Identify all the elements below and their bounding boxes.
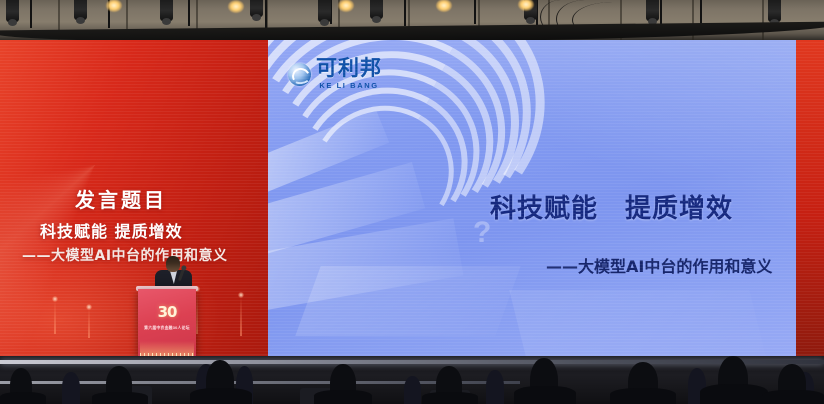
slide-fan-decoration [509,290,766,358]
audience-shoulders [422,392,478,404]
stage-scene: 发言题目 科技赋能 提质增效 ——大模型AI中台的作用和意义 ? [0,0,824,404]
truss-beam [0,22,824,42]
light-glow [388,0,404,11]
stage-light-fixture [6,0,19,22]
audience-shoulders [514,386,576,404]
audience-shoulders [700,384,768,404]
slide-title: 科技赋能 提质增效 [490,188,733,225]
slide-fan-decoration [295,266,520,336]
slide-subtitle: ——大模型AI中台的作用和意义 [546,253,772,277]
stage-accent-light [196,290,198,334]
logo-chinese-text: 可利邦 [316,58,382,79]
podium-anniversary-number: 30 [138,303,196,321]
stage-edge-light [0,360,824,364]
kelebang-logo: 可利邦 KE LI BANG [288,58,382,90]
light-glow [436,0,452,12]
ceiling-truss [0,0,824,42]
stage-light-fixture [250,0,263,17]
light-glow [172,0,188,11]
light-glow [106,0,122,12]
led-panel-red: 发言题目 科技赋能 提质增效 ——大模型AI中台的作用和意义 [0,40,270,358]
audience-shoulders [92,392,148,404]
speech-topic-line3: ——大模型AI中台的作用和意义 [22,245,228,265]
audience-head [62,372,80,404]
stage-light-fixture [646,0,659,21]
audience-shoulders [314,390,372,404]
stage-accent-light [54,300,56,334]
speech-topic-line2: 科技赋能 提质增效 [40,218,183,242]
audience-shoulders [610,388,676,404]
light-glow [228,0,244,13]
audience-shoulders [0,392,46,404]
stage-light-fixture [768,0,781,22]
podium-caption: 第六届中农金融30人论坛 [139,325,194,331]
light-glow [494,0,510,11]
audience-head [486,370,504,404]
stage-accent-light [240,296,242,336]
audience-shoulders [762,390,824,404]
stage-light-fixture [74,0,87,20]
light-glow [288,0,304,11]
led-panel-red-right [796,40,824,358]
led-video-wall: 发言题目 科技赋能 提质增效 ——大模型AI中台的作用和意义 ? [0,40,824,358]
audience-head [404,376,421,404]
stage-light-fixture [370,0,383,19]
audience-shoulders [190,388,252,404]
logo-english-text: KE LI BANG [316,81,382,90]
speech-topic-heading: 发言题目 [75,184,167,213]
presentation-slide: ? 可利邦 KE LI BANG 科技赋能 提质增效 ——大模型AI中台的作用和… [268,40,796,358]
slide-watermark: ? [473,216,491,250]
stage-accent-light [88,308,90,338]
stage-light-fixture [318,0,331,22]
light-pole [30,0,32,28]
light-glow [338,0,354,12]
swoosh-icon [288,63,311,86]
speaker-head [166,256,180,272]
